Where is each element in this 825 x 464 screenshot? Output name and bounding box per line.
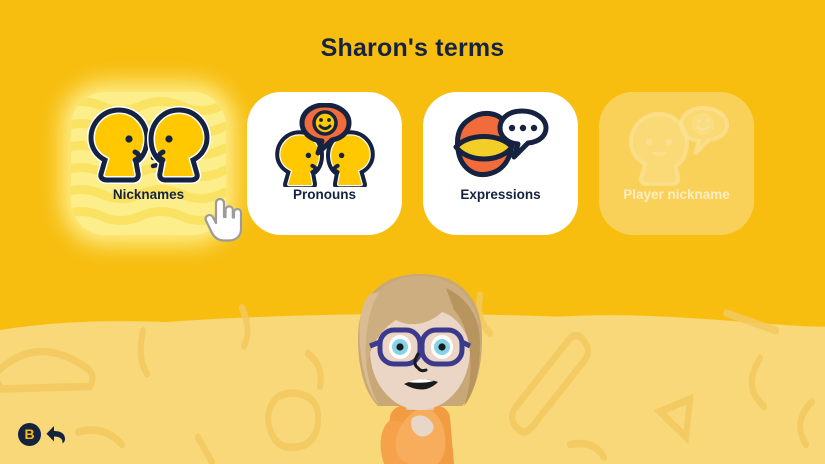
card-label-expressions: Expressions xyxy=(460,188,540,203)
pointing-hand-cursor[interactable] xyxy=(203,198,243,242)
mii-avatar xyxy=(334,268,506,464)
back-arrow-icon xyxy=(45,422,69,446)
back-hint[interactable]: B xyxy=(18,422,69,446)
game-screen: Sharon's terms xyxy=(0,0,825,464)
card-label-player-nickname: Player nickname xyxy=(623,188,730,203)
two-heads-smiley-bubble-icon xyxy=(272,106,378,184)
terms-card-row: Nicknames xyxy=(0,92,825,242)
mouth-speech-bubble-icon xyxy=(450,106,552,184)
b-button-icon[interactable]: B xyxy=(18,423,41,446)
card-player-nickname: Player nickname xyxy=(599,92,754,235)
page-title: Sharon's terms xyxy=(0,34,825,63)
card-pronouns[interactable]: Pronouns xyxy=(247,92,402,235)
head-smiley-bubble-icon xyxy=(623,106,731,184)
card-label-pronouns: Pronouns xyxy=(293,188,356,203)
card-label-nicknames: Nicknames xyxy=(113,188,184,203)
card-expressions[interactable]: Expressions xyxy=(423,92,578,235)
two-heads-talking-icon xyxy=(87,106,211,184)
